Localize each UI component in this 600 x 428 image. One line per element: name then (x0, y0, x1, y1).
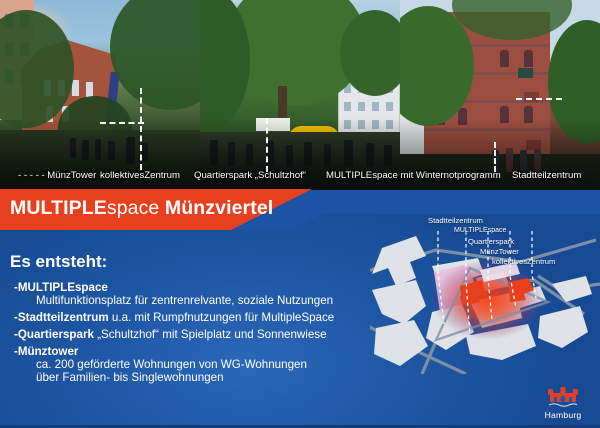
hamburg-logo: Hamburg (534, 387, 592, 420)
caption-quartierspark: Quartierspark „Schultzhof“ (194, 170, 306, 181)
photo-stadtteilzentrum-brick (400, 0, 600, 190)
legend-muenztower: MünzTower (480, 247, 519, 256)
bullet-title-tail: u.a. mit Rumpfnutzungen für MultipleSpac… (109, 311, 335, 324)
photo2-person (366, 143, 374, 167)
hamburg-castle-icon (546, 387, 580, 409)
photo2-person (344, 140, 353, 167)
photo2-person (286, 145, 293, 167)
legend-quartierspark: Quartierspark (468, 237, 514, 246)
bullet-title-tail: „Schultzhof“ mit Spielplatz und Sonnenwi… (94, 328, 327, 341)
section-headline: Es entsteht: (10, 252, 107, 272)
photo2-person (246, 144, 253, 166)
bullet-stadtteilzentrum: -Stadtteilzentrum u.a. mit Rumpfnutzunge… (14, 311, 386, 324)
caption-muenztower: - - - - - MünzTower (18, 170, 96, 181)
photo1-person (82, 140, 89, 160)
bullet-multiplespace: -MULTIPLEspace Multifunktionsplatz für z… (14, 281, 386, 307)
legend-kollektives-zentrum: kollektivesZentrum (492, 257, 555, 266)
legend-multiplespace: MULTIPLEspace (454, 227, 506, 234)
caption-multiplespace-winter: MULTIPLEspace mit Winternotprogramm (326, 170, 501, 181)
photo-divider-dashed (516, 98, 562, 100)
photo-divider-dashed (140, 88, 142, 170)
photo-divider-dashed (266, 118, 268, 172)
caption-kollektives-zentrum: kollektivesZentrum (100, 170, 180, 181)
bullet-title: -Münztower (14, 345, 78, 358)
photo2-protest-sign (256, 118, 290, 131)
title-part-muenzviertel: Münzviertel (159, 197, 273, 219)
photo1-person (142, 143, 148, 161)
photo-muenztower-courtyard (0, 0, 200, 190)
photo1-tree-right (110, 0, 200, 110)
bullet-title: -Stadtteilzentrum (14, 311, 109, 324)
photo3-person (534, 149, 541, 172)
photo2-person (304, 142, 312, 167)
photo-quartierspark-crowd (200, 0, 400, 190)
photo2-person (324, 144, 331, 167)
photo2-person (210, 140, 218, 166)
photo3-balcony (518, 68, 533, 78)
bullet-muenztower: -Münztower ca. 200 geförderte Wohnungen … (14, 345, 386, 384)
photo-caption-row: - - - - - MünzTower kollektivesZentrum Q… (0, 170, 600, 186)
photo2-person (384, 145, 392, 167)
page-title: MULTIPLEspace Münzviertel (10, 197, 273, 220)
photo2-person (228, 142, 235, 166)
photo-divider-dashed (100, 122, 144, 124)
photo3-person (520, 150, 527, 172)
bullet-quartierspark: -Quartierspark „Schultzhof“ mit Spielpla… (14, 328, 386, 341)
bullet-title: -MULTIPLEspace (14, 281, 108, 294)
photo-strip (0, 0, 600, 190)
photo1-person (126, 137, 135, 164)
bullet-sub: ca. 200 geförderte Wohnungen von WG-Wohn… (14, 358, 386, 371)
hamburg-logo-word: Hamburg (534, 410, 592, 420)
bullet-title: -Quartierspark (14, 328, 94, 341)
photo1-person (70, 138, 76, 158)
bullet-list: -MULTIPLEspace Multifunktionsplatz für z… (14, 281, 386, 389)
photo1-person (95, 139, 101, 160)
caption-stadtteilzentrum: Stadtteilzentrum (512, 170, 581, 181)
photo2-tree-left (200, 0, 250, 130)
title-part-multiple: MULTIPLE (10, 197, 107, 219)
title-part-space: space (107, 197, 160, 219)
photo3-balcony (524, 92, 539, 102)
photo-divider-dashed (494, 142, 496, 172)
photo3-person (506, 148, 513, 172)
poster-root: - - - - - MünzTower kollektivesZentrum Q… (0, 0, 600, 428)
bullet-sub: über Familien- bis Singlewohnungen (14, 371, 386, 384)
bullet-sub: Multifunktionsplatz für zentrenrelvante,… (14, 294, 386, 307)
photo1-person (108, 141, 115, 160)
legend-stadtteilzentrum: Stadtteilzentrum (428, 216, 483, 225)
